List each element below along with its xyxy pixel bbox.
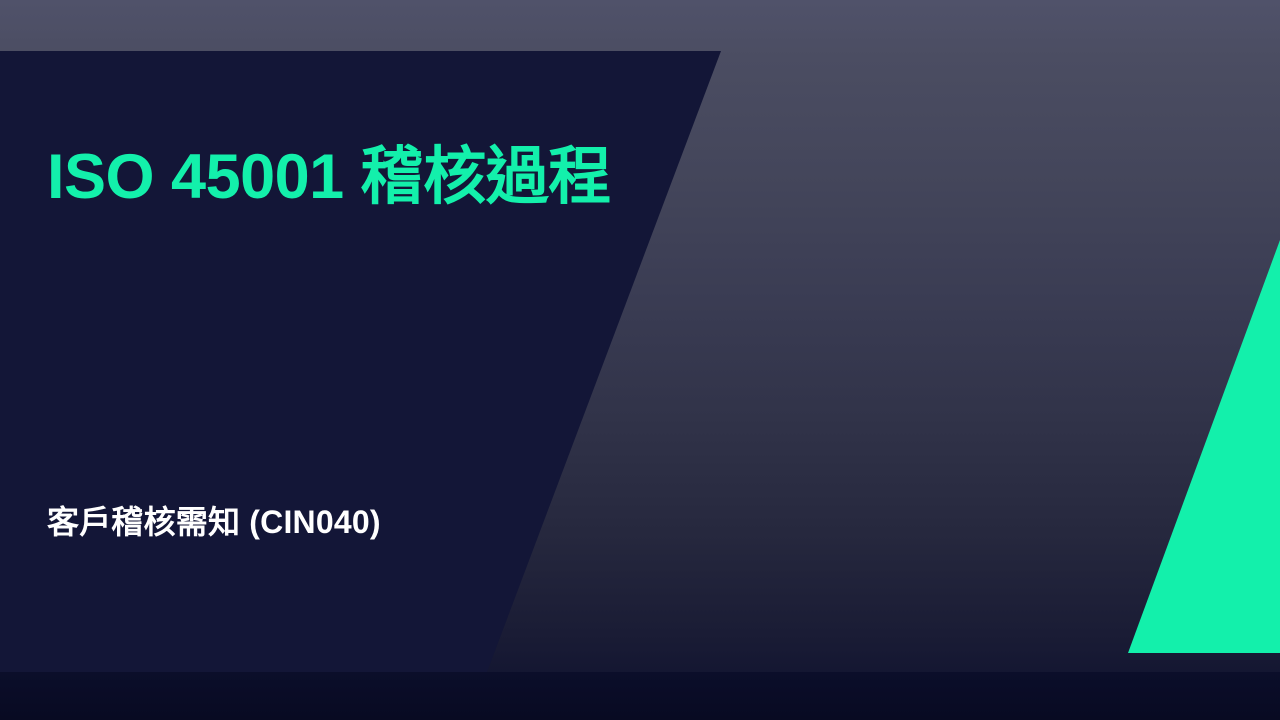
slide-subtitle: 客戶稽核需知 (CIN040): [47, 503, 381, 541]
slide-title: ISO 45001 稽核過程: [47, 142, 611, 213]
presentation-slide: ISO 45001 稽核過程 客戶稽核需知 (CIN040): [0, 0, 1280, 720]
slide-text-layer: ISO 45001 稽核過程 客戶稽核需知 (CIN040): [0, 0, 1280, 720]
